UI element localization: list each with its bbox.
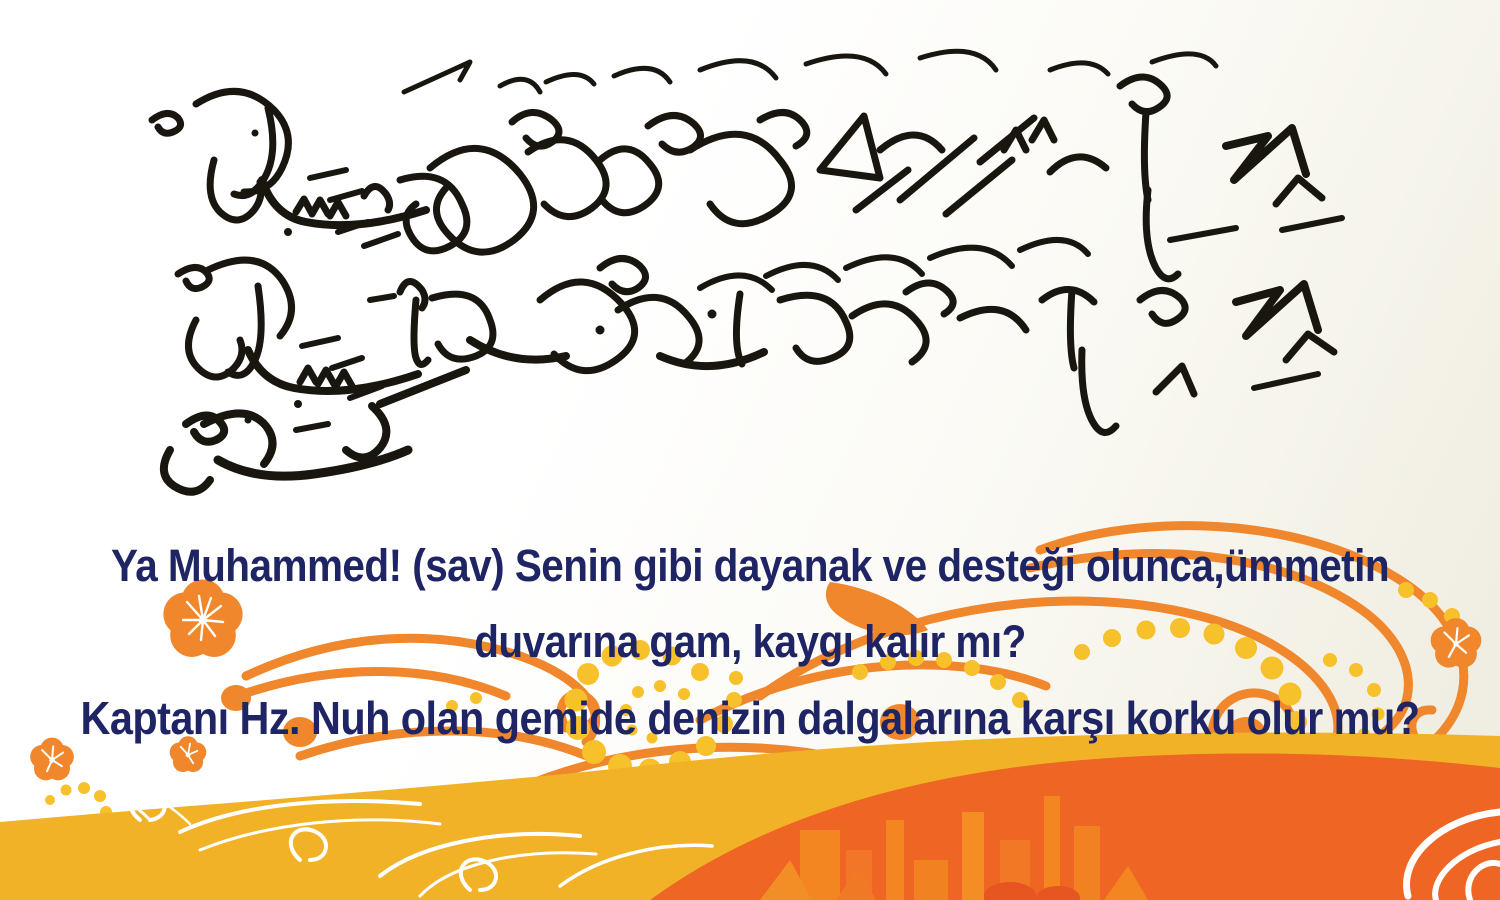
caption-line-1: Ya Muhammed! (sav) Senin gibi dayanak ve… xyxy=(75,528,1425,604)
caption-block: Ya Muhammed! (sav) Senin gibi dayanak ve… xyxy=(0,528,1500,756)
caption-line-2: duvarına gam, kaygı kalır mı? xyxy=(75,604,1425,680)
calligraphy-artwork xyxy=(0,0,1500,520)
caption-line-3: Kaptanı Hz. Nuh olan gemide denizin dalg… xyxy=(75,680,1425,756)
amber-wave xyxy=(0,732,1500,900)
orange-wave xyxy=(650,753,1500,900)
calligraphy-panel xyxy=(0,0,1500,520)
poster-canvas: Ya Muhammed! (sav) Senin gibi dayanak ve… xyxy=(0,0,1500,900)
